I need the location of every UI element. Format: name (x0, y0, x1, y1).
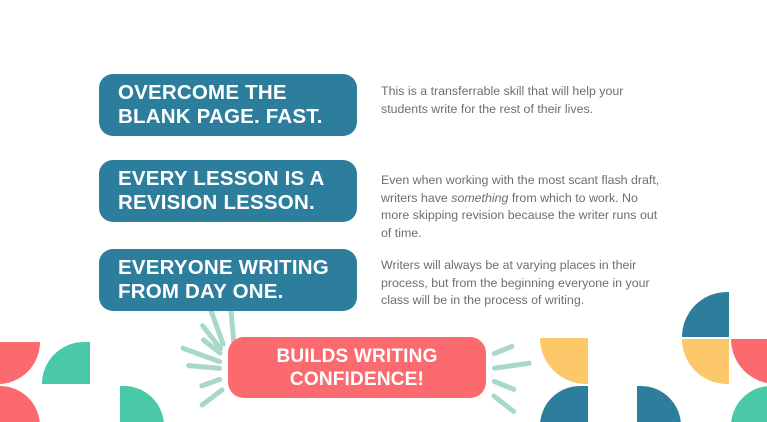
sunburst-ray (199, 376, 223, 389)
paragraph-text-before: Writers will always be at varying places… (381, 258, 650, 307)
paragraph-text-before: This is a transferrable skill that will … (381, 84, 623, 115)
pink-quarter-circle-lower-left (0, 386, 40, 422)
heading-pill-label: EVERYONE WRITING FROM DAY ONE. (118, 256, 329, 304)
sunburst-ray (180, 345, 223, 365)
sunburst-ray (492, 360, 532, 371)
blue-quarter-circle-center (540, 386, 588, 422)
green-quarter-circle-left (42, 342, 90, 384)
sunburst-ray (491, 378, 517, 392)
cta-banner-builds-writing-confidence[interactable]: BUILDS WRITING CONFIDENCE! (228, 337, 486, 398)
body-paragraph-transferrable-skill: This is a transferrable skill that will … (381, 83, 667, 118)
heading-pill-every-lesson-revision[interactable]: EVERY LESSON IS A REVISION LESSON. (99, 160, 357, 222)
sunburst-ray (199, 322, 224, 352)
body-paragraph-flash-draft: Even when working with the most scant fl… (381, 172, 667, 242)
heading-pill-label: EVERY LESSON IS A REVISION LESSON. (118, 167, 325, 215)
sunburst-ray (490, 393, 517, 415)
pink-quarter-circle-upper-left (0, 342, 40, 384)
heading-pill-everyone-writing[interactable]: EVERYONE WRITING FROM DAY ONE. (99, 249, 357, 311)
paragraph-text-emphasis: something (451, 191, 508, 205)
sunburst-ray (199, 387, 226, 409)
blue-quarter-circle-bottom-right (637, 386, 681, 422)
green-quarter-circle-bottom-right (731, 386, 767, 422)
green-quarter-circle-center (120, 386, 164, 422)
body-paragraph-varying-places: Writers will always be at varying places… (381, 257, 667, 309)
sunburst-ray (208, 308, 226, 347)
slide-canvas: OVERCOME THE BLANK PAGE. FAST. EVERY LES… (0, 0, 767, 422)
blue-quarter-circle-top-right (682, 292, 729, 337)
sunburst-ray (186, 363, 222, 371)
heading-pill-overcome-blank-page[interactable]: OVERCOME THE BLANK PAGE. FAST. (99, 74, 357, 136)
heading-pill-label: OVERCOME THE BLANK PAGE. FAST. (118, 81, 323, 129)
pink-quarter-circle-right (731, 339, 767, 384)
yellow-quarter-circle-right (682, 339, 729, 384)
yellow-quarter-circle-center (540, 338, 588, 384)
cta-banner-label: BUILDS WRITING CONFIDENCE! (276, 345, 437, 391)
sunburst-ray (491, 343, 515, 357)
sunburst-ray (200, 337, 224, 357)
